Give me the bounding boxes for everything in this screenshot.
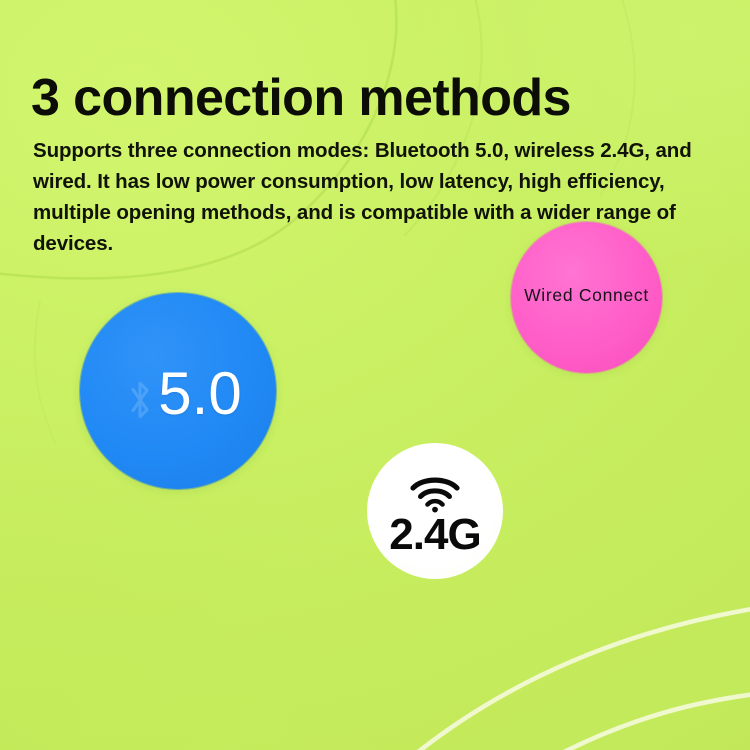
badge-wireless-24g[interactable]: 2.4G (367, 443, 503, 579)
badge-wireless-24g-label: 2.4G (389, 513, 480, 557)
page-title: 3 connection methods (31, 71, 571, 126)
promo-banner: 3 connection methods Supports three conn… (0, 0, 750, 750)
badge-wired-label: Wired Connect (524, 285, 649, 306)
badge-wired[interactable]: Wired Connect (511, 222, 662, 373)
bluetooth-icon (123, 379, 157, 421)
wifi-icon (409, 475, 461, 513)
badge-bluetooth-label: 5.0 (158, 359, 241, 428)
badge-bluetooth[interactable]: 5.0 (80, 293, 276, 489)
